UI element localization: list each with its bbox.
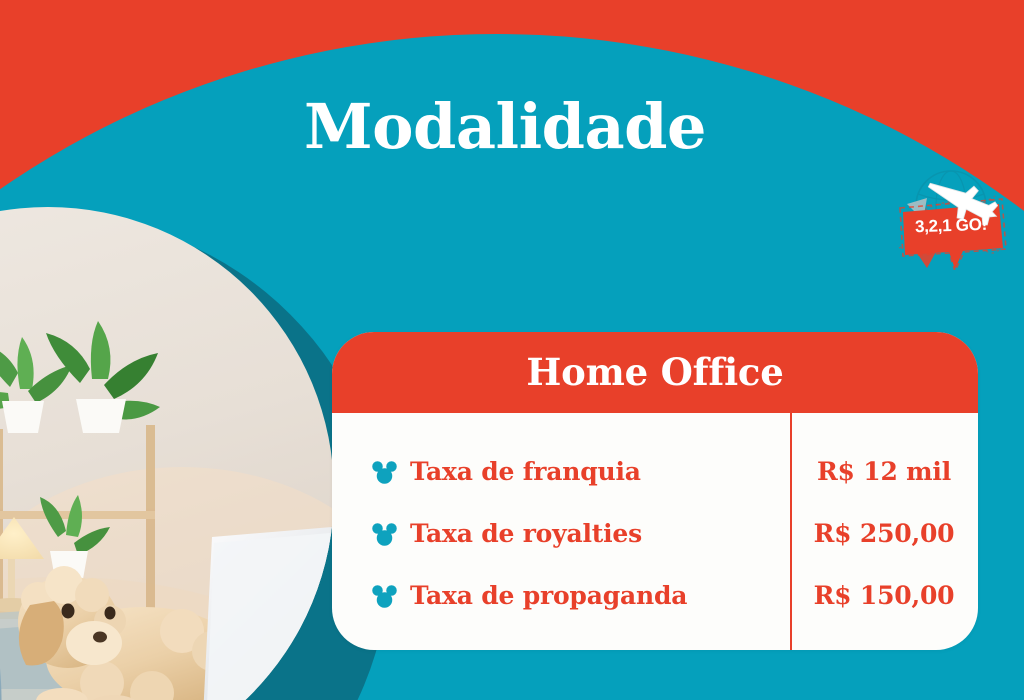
fee-label-cell: Taxa de royalties [332, 519, 790, 548]
page-title: Modalidade [0, 96, 1024, 158]
mickey-head-icon [372, 585, 397, 608]
brand-badge[interactable]: 3,2,1 GO! [893, 160, 1009, 270]
fee-label: Taxa de propaganda [410, 581, 687, 610]
fee-label-cell: Taxa de franquia [332, 457, 790, 486]
table-row: Taxa de franquia R$ 12 mil [332, 441, 978, 503]
fee-list: Taxa de franquia R$ 12 mil Taxa de royal… [332, 413, 978, 650]
brand-badge-graphic [893, 160, 1009, 270]
table-row: Taxa de propaganda R$ 150,00 [332, 565, 978, 627]
mickey-head-icon [372, 461, 397, 484]
pricing-card: Home Office Taxa de franquia R$ 12 mil [332, 332, 978, 650]
card-header-title: Home Office [526, 350, 783, 394]
fee-label: Taxa de royalties [410, 519, 642, 548]
card-header: Home Office [332, 332, 978, 413]
fee-value: R$ 250,00 [814, 519, 955, 548]
fee-value-cell: R$ 250,00 [790, 519, 978, 548]
fee-label: Taxa de franquia [410, 457, 641, 486]
fee-value: R$ 150,00 [814, 581, 955, 610]
fee-value-cell: R$ 150,00 [790, 581, 978, 610]
card-body: Taxa de franquia R$ 12 mil Taxa de royal… [332, 413, 978, 650]
table-row: Taxa de royalties R$ 250,00 [332, 503, 978, 565]
fee-label-cell: Taxa de propaganda [332, 581, 790, 610]
mickey-head-icon [372, 523, 397, 546]
poster-canvas: Modalidade [0, 0, 1024, 700]
fee-value-cell: R$ 12 mil [790, 457, 978, 486]
fee-value: R$ 12 mil [817, 457, 951, 486]
